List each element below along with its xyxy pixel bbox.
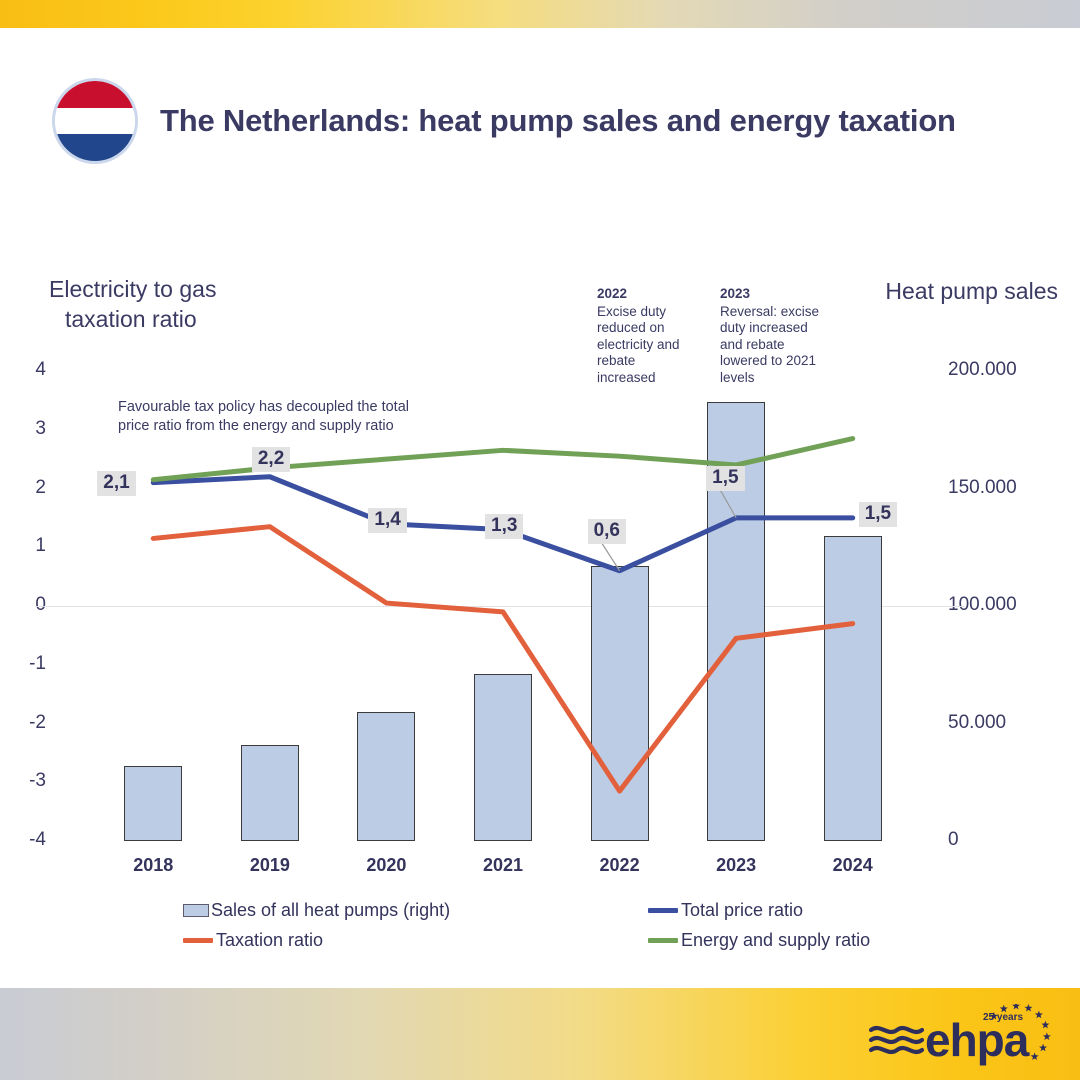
netherlands-flag-icon bbox=[52, 78, 138, 164]
callout-2022-year: 2022 bbox=[597, 286, 697, 303]
flag-stripe-red bbox=[55, 81, 135, 108]
x-axis-tick: 2020 bbox=[331, 855, 441, 876]
right-axis-tick: 100.000 bbox=[948, 594, 1017, 616]
left-axis-tick: 2 bbox=[0, 477, 46, 499]
x-axis-tick: 2021 bbox=[448, 855, 558, 876]
left-axis-tick: 3 bbox=[0, 418, 46, 440]
legend-item-label: Taxation ratio bbox=[216, 930, 323, 951]
left-axis-tick: 4 bbox=[0, 359, 46, 381]
left-axis-tick: -3 bbox=[0, 770, 46, 792]
legend-item-label: Sales of all heat pumps (right) bbox=[211, 900, 450, 921]
eu-star-icon bbox=[1041, 1021, 1049, 1029]
x-axis-tick: 2024 bbox=[798, 855, 908, 876]
data-label: 1,4 bbox=[368, 508, 406, 533]
eu-star-icon bbox=[1039, 1044, 1047, 1052]
legend-swatch-line-icon bbox=[648, 938, 678, 943]
right-axis-tick: 150.000 bbox=[948, 477, 1017, 499]
legend-swatch-line-icon bbox=[648, 908, 678, 913]
x-axis-tick: 2022 bbox=[565, 855, 675, 876]
eu-star-icon bbox=[1012, 1004, 1020, 1009]
legend-item-label: Energy and supply ratio bbox=[681, 930, 870, 951]
line-series bbox=[95, 371, 911, 841]
x-axis-tick: 2018 bbox=[98, 855, 208, 876]
eu-star-icon bbox=[1035, 1011, 1043, 1019]
top-gradient-band bbox=[0, 0, 1080, 28]
data-label: 1,3 bbox=[485, 514, 523, 539]
left-axis-tick: 0 bbox=[0, 594, 46, 616]
infographic-root: The Netherlands: heat pump sales and ene… bbox=[0, 0, 1080, 1080]
eu-star-icon bbox=[1043, 1032, 1051, 1040]
eu-star-icon bbox=[1024, 1004, 1032, 1012]
ehpa-wave-logo-icon: ehpa 25 years bbox=[867, 1004, 1052, 1066]
x-axis-tick: 2023 bbox=[681, 855, 791, 876]
left-axis-title-line1: Electricity to gas bbox=[49, 276, 216, 302]
data-label: 1,5 bbox=[859, 502, 897, 527]
legend-item-label: Total price ratio bbox=[681, 900, 803, 921]
flag-stripe-blue bbox=[55, 134, 135, 161]
left-axis-tick: -2 bbox=[0, 712, 46, 734]
data-label: 0,6 bbox=[588, 519, 626, 544]
chart-plot-area: 2,12,21,41,30,61,51,5 bbox=[95, 371, 911, 841]
left-axis-title-line2: taxation ratio bbox=[49, 304, 216, 334]
left-axis-tick: 1 bbox=[0, 535, 46, 557]
left-axis-title: Electricity to gas taxation ratio bbox=[49, 274, 216, 334]
left-axis-tick: -4 bbox=[0, 829, 46, 851]
legend-item[interactable]: Total price ratio bbox=[648, 900, 803, 921]
left-axis-tick: -1 bbox=[0, 653, 46, 675]
page-title: The Netherlands: heat pump sales and ene… bbox=[160, 103, 956, 139]
right-axis-title: Heat pump sales bbox=[885, 278, 1058, 305]
eu-star-icon bbox=[1031, 1052, 1039, 1060]
data-label: 1,5 bbox=[706, 466, 744, 491]
data-label: 2,2 bbox=[252, 447, 290, 472]
line-path bbox=[153, 527, 852, 791]
legend-item[interactable]: Energy and supply ratio bbox=[648, 930, 870, 951]
data-label: 2,1 bbox=[97, 471, 135, 496]
legend-item[interactable]: Sales of all heat pumps (right) bbox=[183, 900, 450, 921]
legend-swatch-line-icon bbox=[183, 938, 213, 943]
legend-item[interactable]: Taxation ratio bbox=[183, 930, 323, 951]
logo-anniversary-text: 25 years bbox=[983, 1012, 1023, 1023]
legend-swatch-box-icon bbox=[183, 904, 209, 917]
label-leader-line bbox=[720, 490, 736, 518]
right-axis-tick: 50.000 bbox=[948, 712, 1006, 734]
flag-stripe-white bbox=[55, 108, 135, 135]
right-axis-tick: 200.000 bbox=[948, 359, 1017, 381]
right-axis-tick: 0 bbox=[948, 829, 959, 851]
callout-2023-year: 2023 bbox=[720, 286, 820, 303]
x-axis-tick: 2019 bbox=[215, 855, 325, 876]
